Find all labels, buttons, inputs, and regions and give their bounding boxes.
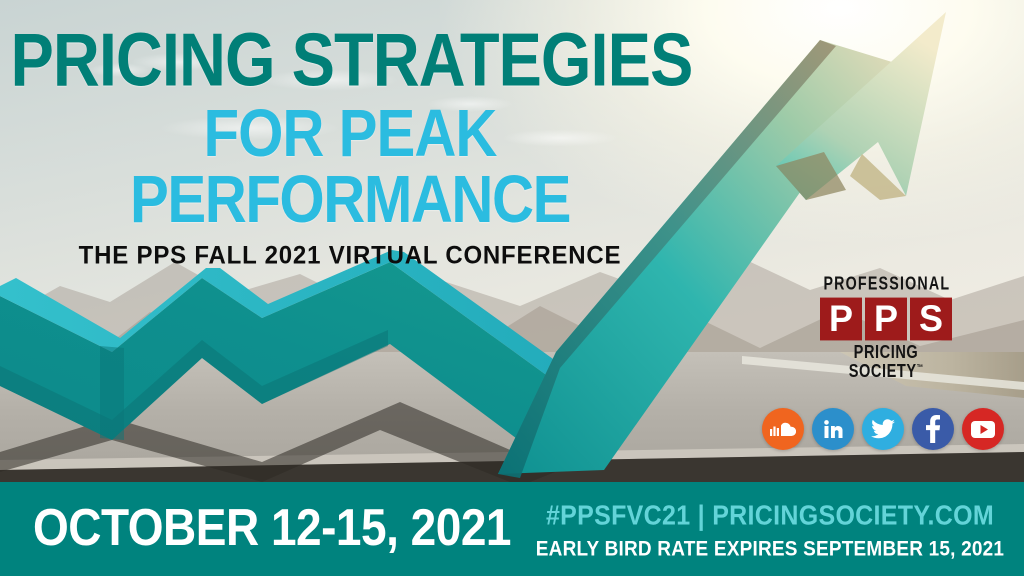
soundcloud-icon [770, 421, 796, 437]
headline-line-2: FOR PEAK [11, 102, 690, 164]
facebook-icon [926, 415, 940, 443]
pps-logo[interactable]: PROFESSIONAL P P S PRICING SOCIETY™ [818, 278, 954, 376]
logo-bottom-word: PRICING SOCIETY [849, 342, 919, 380]
early-bird-notice: EARLY BIRD RATE EXPIRES SEPTEMBER 15, 20… [535, 538, 1005, 562]
trademark-symbol: ™ [917, 363, 924, 371]
subheadline: THE PPS FALL 2021 VIRTUAL CONFERENCE [0, 244, 700, 267]
logo-top-word: PROFESSIONAL [823, 275, 948, 293]
twitter-icon [871, 419, 895, 439]
footer-right-block: #PPSFVC21 | PRICINGSOCIETY.COM EARLY BIR… [535, 500, 1005, 560]
linkedin-link[interactable] [812, 408, 854, 450]
headline-block: PRICING STRATEGIES FOR PEAK PERFORMANCE … [0, 26, 700, 267]
headline-line-3: PERFORMANCE [11, 168, 690, 230]
youtube-link[interactable] [962, 408, 1004, 450]
logo-bottom-word-wrap: PRICING SOCIETY™ [822, 344, 950, 381]
twitter-link[interactable] [862, 408, 904, 450]
hashtag-and-website[interactable]: #PPSFVC21 | PRICINGSOCIETY.COM [535, 500, 1005, 532]
conference-promo-banner: PRICING STRATEGIES FOR PEAK PERFORMANCE … [0, 0, 1024, 576]
footer-bar: OCTOBER 12-15, 2021 #PPSFVC21 | PRICINGS… [0, 482, 1024, 576]
facebook-link[interactable] [912, 408, 954, 450]
social-links-row [762, 408, 1004, 450]
logo-square-p2: P [865, 297, 907, 340]
logo-letter-squares: P P S [818, 298, 954, 340]
youtube-icon [970, 420, 996, 439]
headline-line-1: PRICING STRATEGIES [11, 26, 690, 95]
logo-square-s: S [910, 297, 952, 340]
logo-square-p1: P [820, 297, 862, 340]
linkedin-icon [823, 419, 844, 440]
event-date: OCTOBER 12-15, 2021 [33, 497, 511, 557]
soundcloud-link[interactable] [762, 408, 804, 450]
